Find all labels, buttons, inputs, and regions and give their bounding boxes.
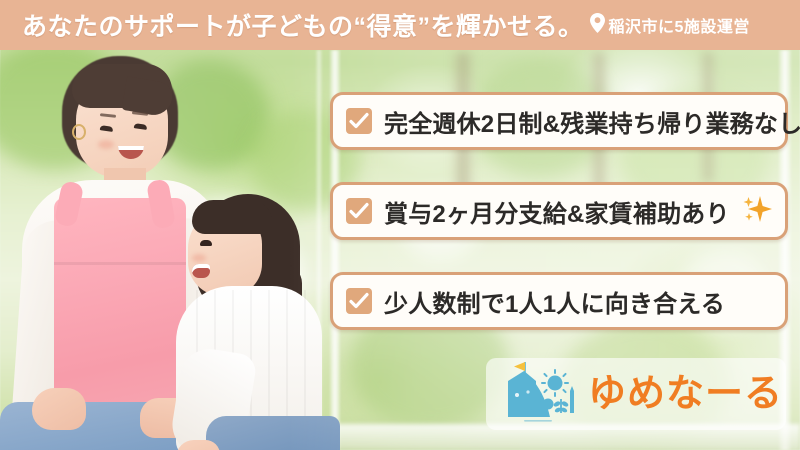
feature-card-list: 完全週休2日制&残業持ち帰り業務なし 賞与2ヶ月分支給&家賃補助あり bbox=[330, 92, 788, 362]
feature-card: 完全週休2日制&残業持ち帰り業務なし bbox=[330, 92, 788, 150]
sparkles-icon bbox=[740, 192, 774, 231]
recruit-banner: あなたのサポートが子どもの“得意”を輝かせる。 稲沢市に5施設運営 完全週休2日… bbox=[0, 0, 800, 450]
checkbox-checked-icon bbox=[346, 108, 372, 134]
page-title: あなたのサポートが子どもの“得意”を輝かせる。 bbox=[22, 7, 584, 43]
castle-flag-logo-icon bbox=[500, 359, 578, 430]
feature-card-text: 少人数制で1人1人に向き合える bbox=[384, 284, 725, 319]
map-pin-icon bbox=[590, 13, 605, 38]
location-badge: 稲沢市に5施設運営 bbox=[590, 13, 750, 38]
header-band: あなたのサポートが子どもの“得意”を輝かせる。 稲沢市に5施設運営 bbox=[0, 0, 800, 50]
logo-wordmark: ゆめなーる bbox=[588, 375, 783, 413]
feature-card-text: 賞与2ヶ月分支給&家賃補助あり bbox=[384, 194, 730, 229]
checkbox-checked-icon bbox=[346, 198, 372, 224]
feature-card: 賞与2ヶ月分支給&家賃補助あり bbox=[330, 182, 788, 240]
logo-panel: ゆめなーる bbox=[486, 358, 786, 430]
checkbox-checked-icon bbox=[346, 288, 372, 314]
feature-card: 少人数制で1人1人に向き合える bbox=[330, 272, 788, 330]
location-text: 稲沢市に5施設運営 bbox=[609, 13, 750, 37]
feature-card-text: 完全週休2日制&残業持ち帰り業務なし bbox=[384, 104, 800, 139]
